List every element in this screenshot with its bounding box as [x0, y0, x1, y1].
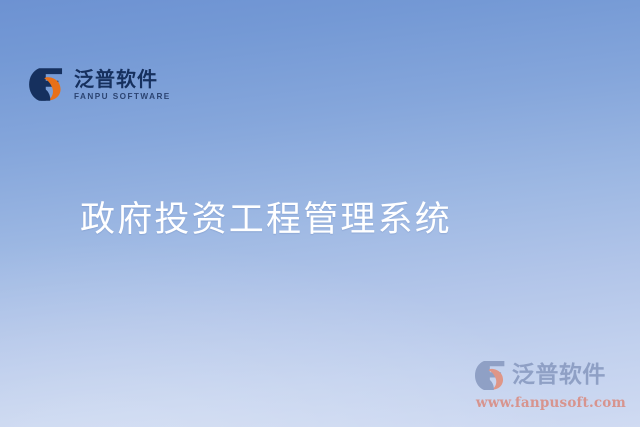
presentation-slide: 泛普软件 FANPU SOFTWARE 政府投资工程管理系统 泛普软件 www.… — [0, 0, 640, 427]
brand-name-cn: 泛普软件 — [74, 69, 171, 90]
fanpu-logo-watermark-icon — [474, 359, 507, 392]
fanpu-logo-icon — [28, 66, 65, 103]
brand-wordmark: 泛普软件 FANPU SOFTWARE — [74, 68, 171, 101]
watermark-logo-row: 泛普软件 — [474, 359, 606, 392]
brand-name-en: FANPU SOFTWARE — [74, 93, 171, 101]
watermark: 泛普软件 www.fanpusoft.com — [474, 359, 626, 411]
slide-title: 政府投资工程管理系统 — [80, 191, 452, 242]
watermark-url: www.fanpusoft.com — [476, 395, 626, 411]
brand-logo: 泛普软件 FANPU SOFTWARE — [28, 66, 171, 103]
watermark-name-cn: 泛普软件 — [512, 364, 606, 387]
